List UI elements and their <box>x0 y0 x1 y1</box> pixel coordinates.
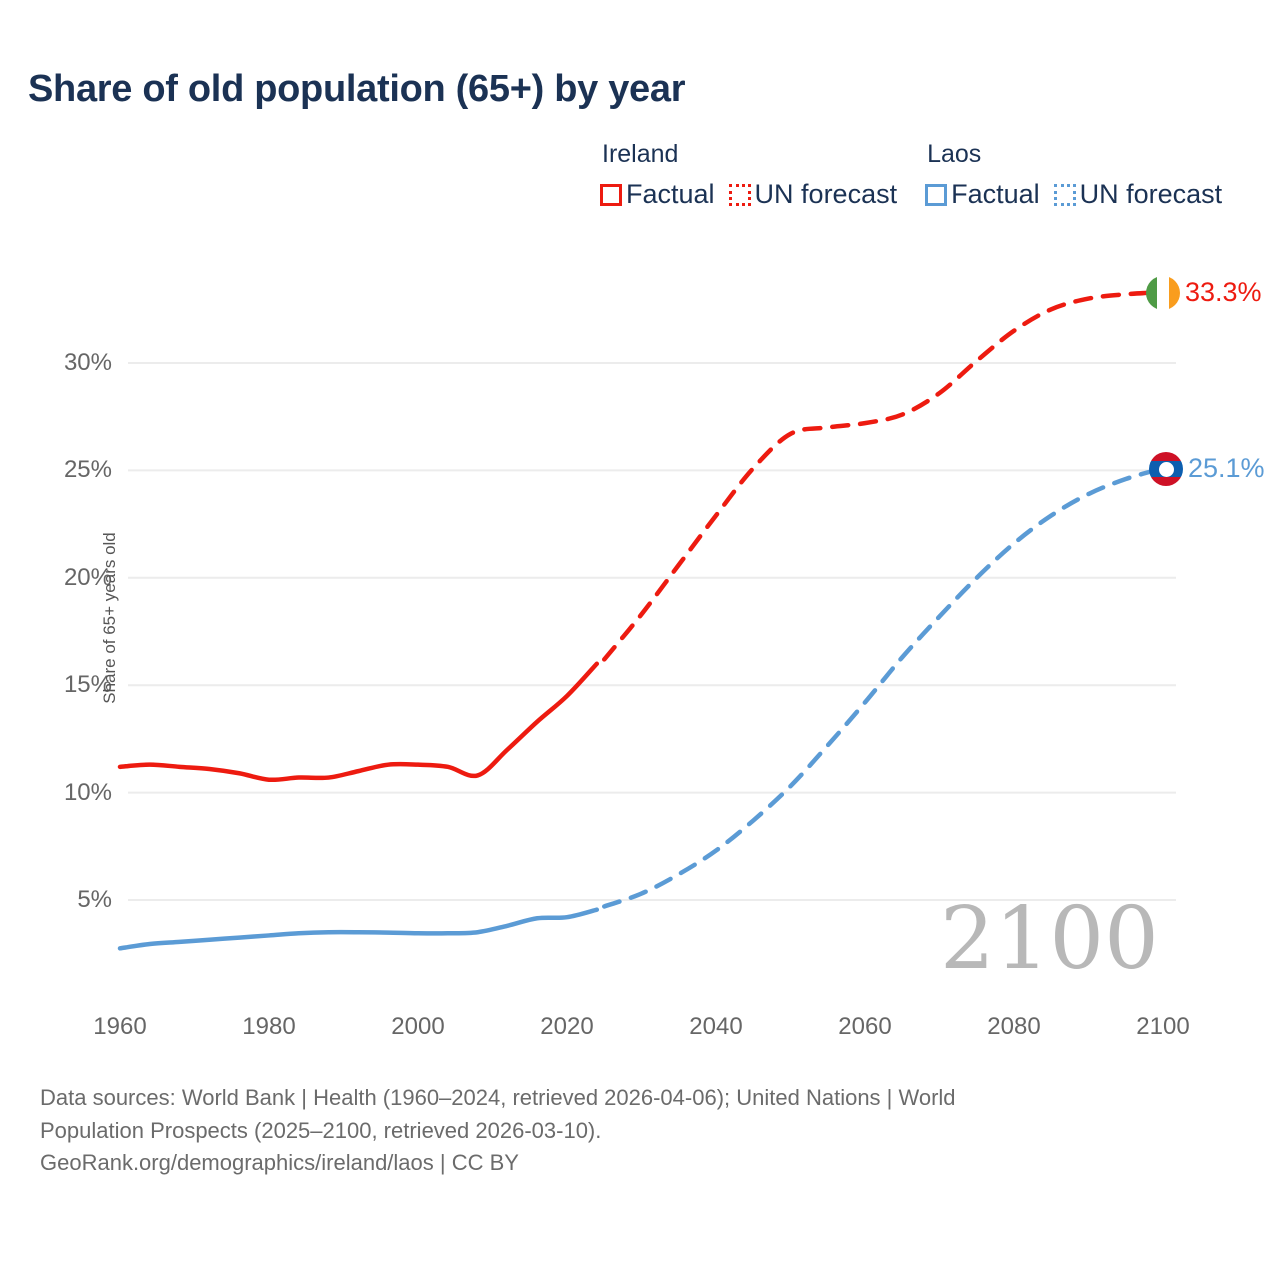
y-axis-tick-label: 25% <box>0 456 112 484</box>
series-lines <box>120 292 1163 948</box>
laos-flag-red-top-band <box>1149 452 1183 461</box>
x-axis-tick-label: 2080 <box>987 1013 1040 1041</box>
laos-end-value-label: 25.1% <box>1188 455 1265 482</box>
series-line-laos-factual <box>120 910 597 949</box>
series-line-laos-un-forecast <box>604 468 1163 906</box>
chart-page: Share of old population (65+) by year Ir… <box>0 0 1280 1280</box>
x-axis-tick-label: 2060 <box>838 1013 891 1041</box>
x-axis-tick-label: 2000 <box>391 1013 444 1041</box>
y-axis-title: Share of 65+ years old <box>100 498 120 738</box>
footer-data-sources-line-2: Population Prospects (2025–2100, retriev… <box>40 1115 1240 1148</box>
y-axis-tick-label: 20% <box>0 564 112 592</box>
x-axis-tick-label: 2100 <box>1136 1013 1189 1041</box>
x-axis-tick-label: 1980 <box>242 1013 295 1041</box>
y-axis-tick-label: 10% <box>0 779 112 807</box>
x-axis-tick-label: 1960 <box>93 1013 146 1041</box>
footer-data-sources-line-1: Data sources: World Bank | Health (1960–… <box>40 1082 1240 1115</box>
y-axis-tick-label: 15% <box>0 671 112 699</box>
ireland-end-value-label: 33.3% <box>1185 279 1262 306</box>
chart-plot-area: 2100 5%10%15%20%25%30% 19601980200020202… <box>0 0 1280 1060</box>
y-axis-tick-label: 30% <box>0 349 112 377</box>
chart-footer: Data sources: World Bank | Health (1960–… <box>40 1082 1240 1180</box>
laos-flag-icon <box>1149 452 1183 486</box>
laos-flag-red-bottom-band <box>1149 477 1183 486</box>
y-axis-tick-label: 5% <box>0 886 112 914</box>
x-axis-tick-label: 2040 <box>689 1013 742 1041</box>
laos-flag-white-disc <box>1159 462 1174 477</box>
series-line-ireland-un-forecast <box>604 292 1163 659</box>
ireland-flag-icon <box>1146 276 1180 310</box>
x-axis-tick-label: 2020 <box>540 1013 593 1041</box>
gridlines <box>128 363 1176 900</box>
series-line-ireland-factual <box>120 664 597 780</box>
ireland-flag-white-band <box>1157 276 1168 310</box>
year-watermark: 2100 <box>940 896 1159 982</box>
footer-attribution-line: GeoRank.org/demographics/ireland/laos | … <box>40 1147 1240 1180</box>
